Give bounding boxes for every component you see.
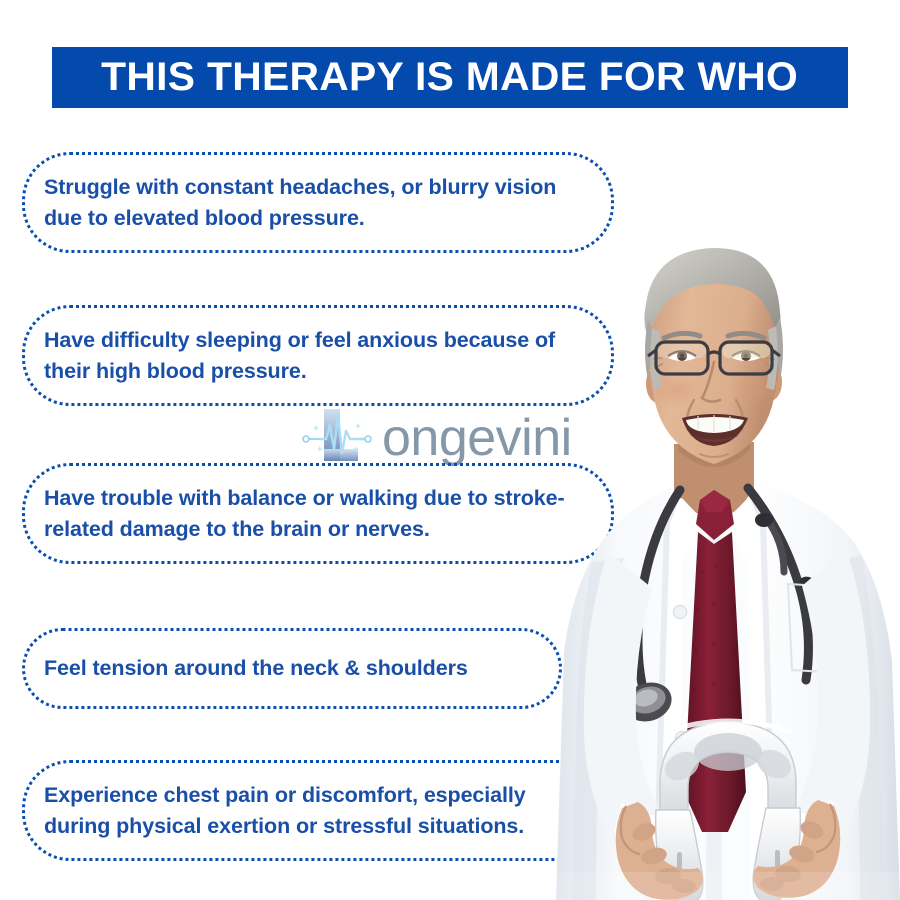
bullet-box-3: Have trouble with balance or walking due…: [22, 463, 614, 564]
bullet-text-2: Have difficulty sleeping or feel anxious…: [25, 325, 611, 386]
doctor-photo: [556, 232, 900, 900]
bullet-box-5: Experience chest pain or discomfort, esp…: [22, 760, 614, 861]
bullet-text-4: Feel tension around the neck & shoulders: [25, 653, 476, 684]
bullet-text-1: Struggle with constant headaches, or blu…: [25, 172, 611, 233]
header-banner: THIS THERAPY IS MADE FOR WHO: [52, 47, 848, 108]
bullet-box-4: Feel tension around the neck & shoulders: [22, 628, 562, 709]
bullet-text-5: Experience chest pain or discomfort, esp…: [25, 780, 611, 841]
brand-name: ongevini: [382, 412, 572, 464]
page-title: THIS THERAPY IS MADE FOR WHO: [102, 57, 799, 97]
bullet-text-3: Have trouble with balance or walking due…: [25, 483, 611, 544]
bullet-box-1: Struggle with constant headaches, or blu…: [22, 152, 614, 253]
infographic-poster: THIS THERAPY IS MADE FOR WHO Struggle wi…: [0, 0, 900, 900]
longevini-l-ekg-logo-icon: [300, 409, 384, 469]
bullet-box-2: Have difficulty sleeping or feel anxious…: [22, 305, 614, 406]
